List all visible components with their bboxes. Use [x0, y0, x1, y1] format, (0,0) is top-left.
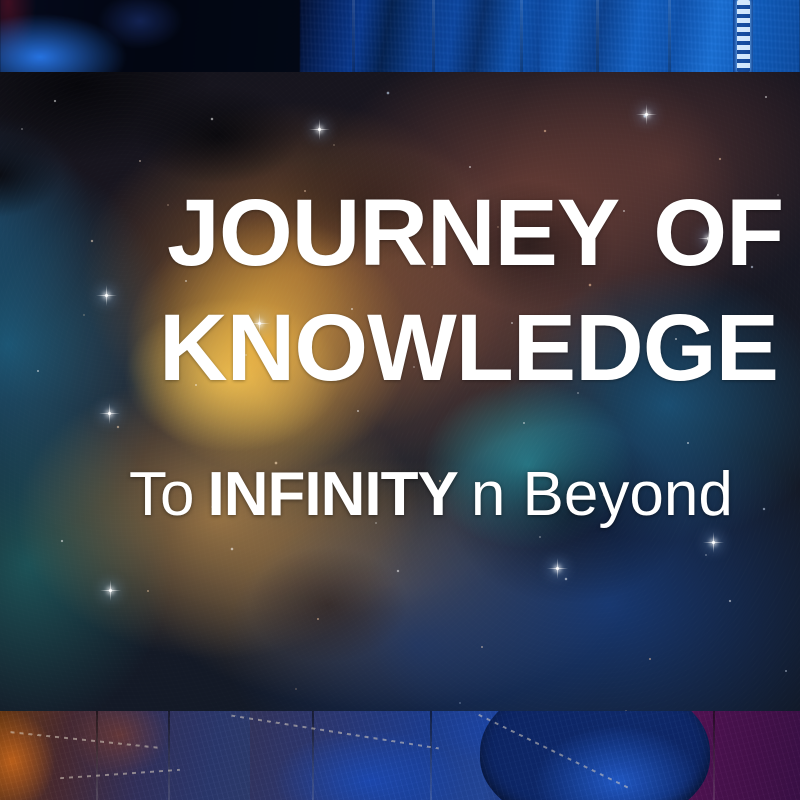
bottom-band-weave-texture — [0, 711, 800, 800]
zipper-teeth — [737, 0, 750, 72]
top-band-weave-texture — [300, 0, 800, 72]
bottom-fabric-band — [0, 711, 800, 800]
fabric-seam — [596, 0, 599, 72]
top-band-dark-region — [0, 0, 330, 72]
fabric-seam — [352, 0, 355, 72]
nebula-grain-layer — [0, 71, 800, 712]
nebula-background — [0, 71, 800, 712]
fabric-seam — [668, 0, 671, 72]
fabric-seam — [432, 0, 435, 72]
zipper-icon — [733, 0, 753, 72]
thumbnail-canvas: JOURNEYOF KNOWLEDGE ToINFINITYn Beyond — [0, 0, 800, 800]
top-fabric-band — [0, 0, 800, 72]
fabric-seam — [520, 0, 523, 72]
